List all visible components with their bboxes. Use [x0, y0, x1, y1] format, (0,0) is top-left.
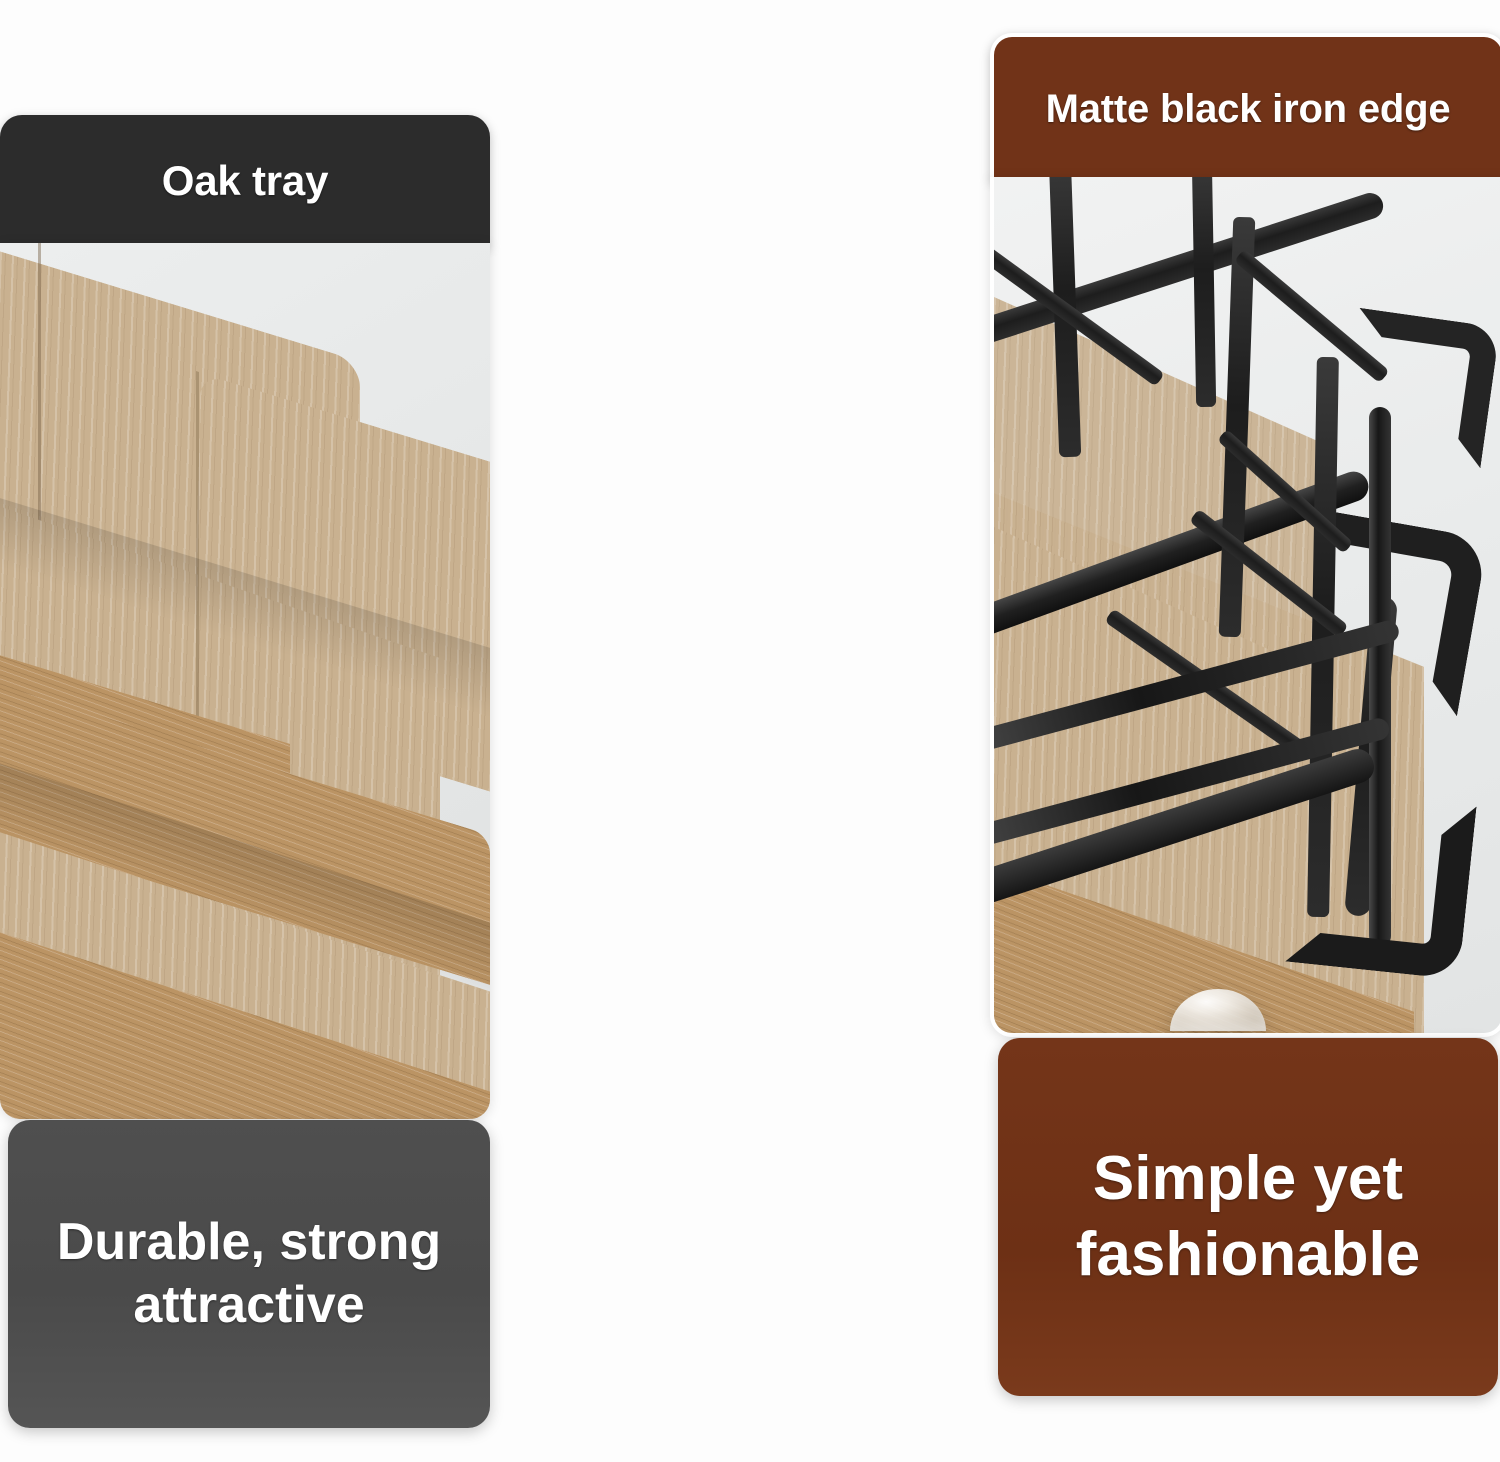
panel-photo-oak-tray — [0, 243, 490, 1119]
panel-matte-black-iron-edge: Matte black iron edge — [495, 0, 1011, 1462]
panel-caption-label-oak-tray: Durable, strong attractive — [31, 1211, 467, 1338]
oak-tray-scene — [0, 243, 490, 1119]
panel-header-oak-tray: Oak tray — [0, 115, 490, 247]
panel-silicone-anti-slip-mats: Silicone anti-slip mats — [1000, 0, 1500, 1462]
panel-caption-oak-tray: Durable, strong attractive — [8, 1120, 490, 1428]
panel-oak-tray: Oak tray — [0, 0, 490, 1462]
infographic-stage: Oak tray — [0, 0, 1500, 1462]
panel-header-label-oak-tray: Oak tray — [150, 158, 341, 204]
